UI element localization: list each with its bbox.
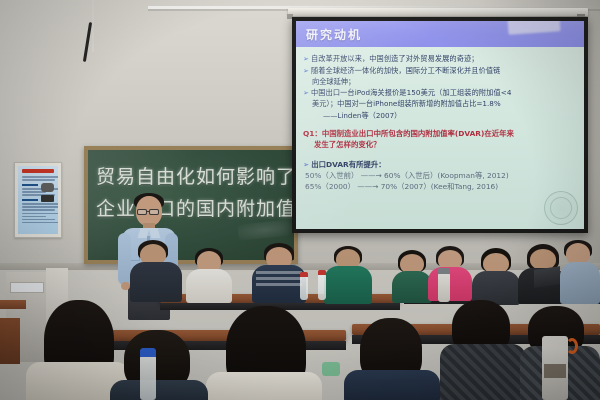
person-torso (110, 380, 208, 400)
slide-question: Q1： 中国制造业出口中所包含的国内附加值率(DVAR)在近年来 (303, 128, 576, 139)
bullet-text: 随着全球经济一体化的加快，国际分工不断深化并且价值链 (311, 66, 576, 77)
poster-illustration-icon (41, 183, 54, 192)
finding-heading: ➢ 出口DVAR有所提升： (303, 159, 576, 170)
poster-text-line (22, 222, 58, 224)
poster-text-line (22, 206, 58, 208)
poster-text-line (22, 176, 58, 178)
person-torso-plaid (440, 344, 526, 400)
poster-title-bar (22, 169, 54, 173)
finding-heading-text: 出口DVAR有所提升： (311, 159, 386, 170)
bullet-marker-icon: ➢ (303, 159, 309, 170)
slide-body: ➢ 自改革开放以来，中国创造了对外贸易发展的奇迹； ➢ 随着全球经济一体化的加快… (296, 47, 584, 193)
thermos-flask (438, 272, 450, 302)
thermos-strap (566, 338, 578, 354)
finding-row: 50%（入世前） ——→ 60%（入世后）(Koopman等, 2012) (303, 170, 576, 182)
thermos-cap (438, 268, 450, 274)
slide: 研究动机 ➢ 自改革开放以来，中国创造了对外贸易发展的奇迹； ➢ 随着全球经济一… (296, 21, 584, 229)
slide-bullet: ➢ 中国出口一台iPod海关报价是150美元（加工组装的附加值<4 (303, 88, 576, 99)
bullet-continuation: 向全球延伸； (303, 77, 576, 88)
water-bottle (318, 274, 326, 300)
person-torso (130, 262, 182, 302)
university-seal-watermark (544, 191, 578, 225)
wall-poster (14, 162, 62, 238)
audience-member (472, 248, 520, 304)
question-text: 中国制造业出口中所包含的国内附加值率(DVAR)在近年来 (322, 128, 576, 139)
projection-screen: 研究动机 ➢ 自改革开放以来，中国创造了对外贸易发展的奇迹； ➢ 随着全球经济一… (292, 17, 588, 233)
audience-member (186, 248, 232, 300)
thermos-cap (542, 336, 568, 347)
audience-member (428, 246, 472, 300)
poster-subheading (22, 184, 38, 187)
projector-glare (508, 21, 561, 35)
audience-member (130, 240, 182, 300)
laptop (534, 266, 560, 288)
poster-text-line (22, 219, 55, 221)
audience-member (324, 246, 372, 302)
poster-text-line (22, 216, 46, 218)
classroom-photo: 贸易自由化如何影响了 企业出口的国内附加值 研究动机 (0, 0, 600, 400)
question-text-line2: 发生了怎样的变化？ (303, 139, 576, 150)
person-torso (392, 271, 432, 303)
audience-member (392, 250, 432, 300)
slide-bullet: ➢ 随着全球经济一体化的加快，国际分工不断深化并且价值链 (303, 66, 576, 77)
audience-member (252, 243, 306, 301)
lectern-shelf (0, 300, 26, 309)
bullet-citation: ——Linden等（2007） (303, 110, 576, 121)
slide-title: 研究动机 (296, 26, 362, 43)
water-bottle (140, 356, 156, 400)
audience-member-front (344, 318, 440, 400)
shirt-stripe (256, 283, 302, 286)
bullet-marker-icon: ➢ (303, 66, 309, 77)
slide-bullet: ➢ 自改革开放以来，中国创造了对外贸易发展的奇迹； (303, 54, 576, 65)
poster-text-line (22, 209, 55, 211)
person-torso (186, 269, 232, 303)
thermos-contents (544, 364, 566, 378)
blackboard-text-line1: 贸易自由化如何影响了 (96, 162, 296, 189)
person-torso (324, 266, 372, 304)
poster-sheet (18, 166, 58, 234)
bottle-cap (140, 348, 156, 357)
bottle-cap (300, 272, 308, 277)
poster-illustration-icon (41, 195, 54, 202)
person-torso (344, 370, 440, 400)
poster-text-line (22, 179, 55, 181)
finding-row: 65%（2000） ——→ 70%（2007）(Kee和Tang, 2016) (303, 181, 576, 193)
bullet-text: 自改革开放以来，中国创造了对外贸易发展的奇迹； (311, 54, 576, 65)
poster-subheading (22, 199, 38, 202)
lectern-label-plate (10, 282, 44, 293)
poster-text-line (22, 213, 58, 215)
audience-member-front (440, 300, 526, 400)
bullet-text: 中国出口一台iPod海关报价是150美元（加工组装的附加值<4 (311, 88, 576, 99)
person-torso (428, 267, 472, 301)
bullet-marker-icon: ➢ (303, 54, 309, 65)
question-label: Q1： (303, 128, 322, 139)
shirt-stripe (256, 277, 302, 280)
bullet-marker-icon: ➢ (303, 88, 309, 99)
water-bottle (300, 276, 308, 300)
hanging-cable (92, 0, 94, 52)
lectern-side-panel (0, 318, 20, 364)
bottle-cap (318, 270, 326, 275)
glasses-bridge (147, 211, 150, 212)
slide-title-band: 研究动机 (296, 21, 584, 47)
audience-member (560, 240, 600, 302)
poster-text-line (22, 203, 58, 205)
presenter-hand-left (121, 282, 130, 290)
person-torso (560, 262, 600, 304)
glasses-icon (137, 209, 147, 215)
screen-housing (288, 8, 588, 16)
glasses-icon (149, 209, 159, 215)
bullet-continuation: 美元）；中国对一台iPhone组装所新增的附加值占比=1.8% (303, 99, 576, 110)
hanging-cable-clip (83, 22, 92, 62)
audience-member-front (206, 306, 322, 400)
person-torso (206, 372, 322, 400)
green-item (322, 362, 340, 376)
shirt-stripe (256, 271, 302, 274)
audience-member-front (110, 330, 208, 400)
